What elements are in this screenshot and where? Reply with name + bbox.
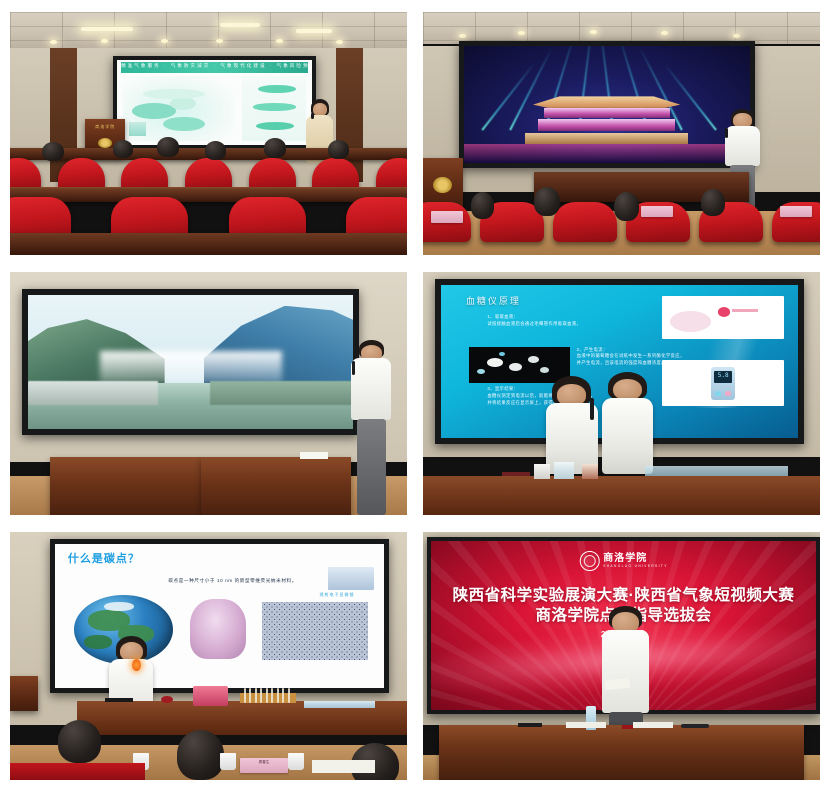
fingerprick-image <box>662 296 783 339</box>
slide-header-text: 精准气象服务 · 气象防灾减灾 · 气象现代化建设 · 气象风险预警 <box>121 62 308 71</box>
photo-panel-1[interactable]: 精准气象服务 · 气象防灾减灾 · 气象现代化建设 · 气象风险预警 <box>10 12 407 255</box>
ceiling <box>423 12 820 44</box>
led-wall <box>22 289 360 435</box>
led-wall <box>459 41 755 168</box>
lectern <box>10 676 38 711</box>
university-emblem-icon <box>433 177 451 193</box>
reagent-bottle <box>534 464 550 479</box>
university-emblem-icon <box>98 138 112 148</box>
glowing-sample <box>132 659 141 671</box>
projection-screen: 精准气象服务 · 气象防灾减灾 · 气象现代化建设 · 气象风险预警 <box>113 56 316 149</box>
red-sample <box>161 696 173 703</box>
paper-sheet <box>633 722 673 728</box>
ceiling <box>10 12 407 48</box>
paper-sheet <box>312 760 376 772</box>
slide-landscape-photo <box>28 295 354 429</box>
china-map <box>123 76 234 142</box>
podium-table <box>439 725 804 780</box>
slide-meteorology: 精准气象服务 · 气象防灾减灾 · 气象现代化建设 · 气象风险预警 <box>117 60 312 145</box>
slide-header-bar: 精准气象服务 · 气象防灾减灾 · 气象现代化建设 · 气象风险预警 <box>121 62 308 73</box>
slide-carbon-dots: 什么是碳点？ 碳点是一种尺寸小于 10 nm 的新型零维荧光纳米材料。 透射电子… <box>55 544 385 688</box>
paper-cup <box>288 753 304 770</box>
student-left <box>546 376 598 473</box>
lectern-text: 商洛学院 <box>85 124 125 130</box>
hand-sample-image <box>190 599 246 659</box>
tabletop-panel <box>645 466 788 476</box>
stage-room <box>10 272 407 515</box>
name-card <box>780 206 812 217</box>
reagent-bottle <box>554 462 574 479</box>
stage-room: 商洛学院 SHANGLUO UNIVERSITY 陕西省科学实验展演大赛·陕西省… <box>423 532 820 780</box>
pointer-pen <box>105 698 133 701</box>
name-card-text: 周春生 <box>240 758 288 767</box>
auditorium-room: 精准气象服务 · 气象防灾减灾 · 气象现代化建设 · 气象风险预警 <box>10 12 407 255</box>
photo-panel-3[interactable] <box>10 272 407 515</box>
name-card: 周春生 <box>240 758 288 773</box>
slide-subtitle: 碳点是一种尺寸小于 10 nm 的新型零维荧光纳米材料。 <box>107 578 357 584</box>
university-seal-icon <box>579 551 599 571</box>
meter-reading: 5.8 <box>714 371 732 383</box>
slide-title: 什么是碳点？ <box>68 550 140 566</box>
name-card <box>641 206 673 217</box>
paper-cup <box>220 753 236 770</box>
student-right <box>602 372 654 474</box>
reagent-bottle <box>582 464 598 479</box>
photo-collage-grid: 精准气象服务 · 气象防灾减灾 · 气象现代化建设 · 气象风险预警 <box>0 0 830 790</box>
paper-sheet <box>300 452 328 459</box>
handheld-microphone <box>590 398 594 420</box>
photo-panel-2[interactable] <box>423 12 820 255</box>
slide-point-1: 1、吸取血液： 试纸接触血液后会通过毛细管作用吸取血液。 <box>487 314 666 327</box>
university-logo: 商洛学院 SHANGLUO UNIVERSITY <box>579 551 668 571</box>
glucometer-image: 5.8 <box>662 360 783 406</box>
name-card <box>431 211 463 223</box>
held-paper <box>605 677 631 689</box>
marker-pen <box>502 472 530 476</box>
photo-panel-4[interactable]: 血糖仪原理 1、吸取血液： 试纸接触血液后会通过毛细管作用吸取血液。 2、产生电… <box>423 272 820 515</box>
pavilion-building <box>541 95 672 144</box>
bench-panel <box>304 701 375 708</box>
pen <box>518 723 542 727</box>
slide-title: 血糖仪原理 <box>466 294 521 307</box>
logo-name-en: SHANGLUO UNIVERSITY <box>603 565 668 568</box>
photo-panel-6[interactable]: 商洛学院 SHANGLUO UNIVERSITY 陕西省科学实验展演大赛·陕西省… <box>423 532 820 780</box>
sample-bin <box>193 686 229 706</box>
stage-room: 什么是碳点？ 碳点是一种尺寸小于 10 nm 的新型零维荧光纳米材料。 透射电子… <box>10 532 407 780</box>
paper-sheet <box>566 722 606 728</box>
map-legend <box>129 122 147 136</box>
test-tube-rack <box>240 693 296 703</box>
tem-micrograph-image <box>262 602 367 660</box>
photo-panel-5[interactable]: 什么是碳点？ 碳点是一种尺寸小于 10 nm 的新型零维荧光纳米材料。 透射电子… <box>10 532 407 780</box>
slide-pavilion-photo <box>464 46 750 163</box>
image-label: 透射电子显微镜 <box>320 592 355 598</box>
red-marker <box>622 725 634 729</box>
instrument-image <box>328 567 374 590</box>
microphone <box>681 724 709 728</box>
stage-cabinet <box>50 457 201 515</box>
stage-room: 血糖仪原理 1、吸取血液： 试纸接触血液后会通过毛细管作用吸取血液。 2、产生电… <box>423 272 820 515</box>
logo-name: 商洛学院 <box>603 553 647 564</box>
projection-screen: 什么是碳点？ 碳点是一种尺寸小于 10 nm 的新型零维荧光纳米材料。 透射电子… <box>50 539 390 693</box>
hall-room <box>423 12 820 255</box>
seat-back <box>10 763 145 780</box>
presenter <box>351 340 391 515</box>
side-map <box>242 76 306 142</box>
lab-bench <box>423 476 820 515</box>
stage-cabinet <box>201 457 352 515</box>
